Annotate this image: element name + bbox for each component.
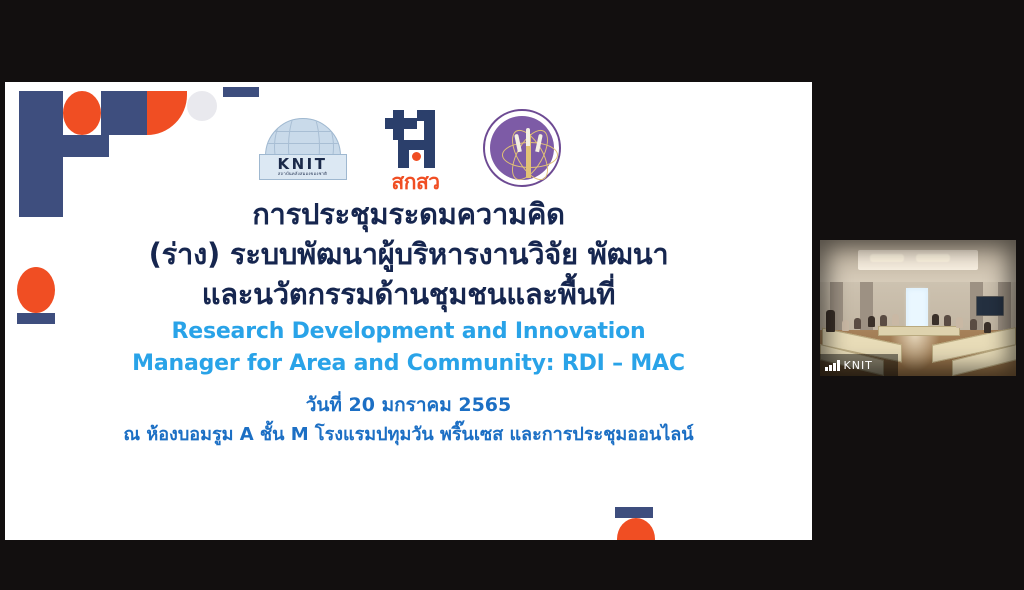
tsri-orange-dot-icon [412,152,421,161]
slide-title-line-1: การประชุมระดมความคิด [5,194,812,234]
university-seal-logo [483,109,561,187]
decor-bar-bottom-right [615,507,653,518]
slide-title-line-3: และนวัตกรรมด้านชุมชนและพื้นที่ [5,274,812,314]
slide-title-line-2: (ร่าง) ระบบพัฒนาผู้บริหารงานวิจัย พัฒนา [5,234,812,274]
seal-inner-disc [490,116,554,180]
logo-row: KNIT สถาบันคลังสมองของชาติ สกสว [5,104,812,192]
slide-subtitle-line-1: Research Development and Innovation [5,318,812,346]
knit-logo-subtext: สถาบันคลังสมองของชาติ [278,171,327,177]
knit-wordmark: KNIT สถาบันคลังสมองของชาติ [259,154,347,180]
slide-subtitle-line-2: Manager for Area and Community: RDI – MA… [5,350,812,378]
presentation-slide[interactable]: KNIT สถาบันคลังสมองของชาติ สกสว [5,82,812,540]
video-watermark: KNIT [820,354,898,376]
tsri-logo: สกสว [377,108,455,188]
knit-logo-text: KNIT [278,158,328,171]
slide-venue: ณ ห้องบอมรูม A ชั้น M โรงแรมปทุมวัน พริ๊… [5,422,812,448]
decor-circle-bottom-right-1 [617,518,655,540]
slide-text-block: การประชุมระดมความคิด (ร่าง) ระบบพัฒนาผู้… [5,194,812,448]
participant-video-tile[interactable]: KNIT [820,240,1016,376]
slide-date: วันที่ 20 มกราคม 2565 [5,392,812,418]
screen-share-stage: KNIT สถาบันคลังสมองของชาติ สกสว [0,0,1024,590]
knit-logo: KNIT สถาบันคลังสมองของชาติ [257,114,349,182]
decor-bar-top-left [223,87,259,97]
video-watermark-label: KNIT [844,359,873,372]
signal-bars-icon [825,360,840,371]
